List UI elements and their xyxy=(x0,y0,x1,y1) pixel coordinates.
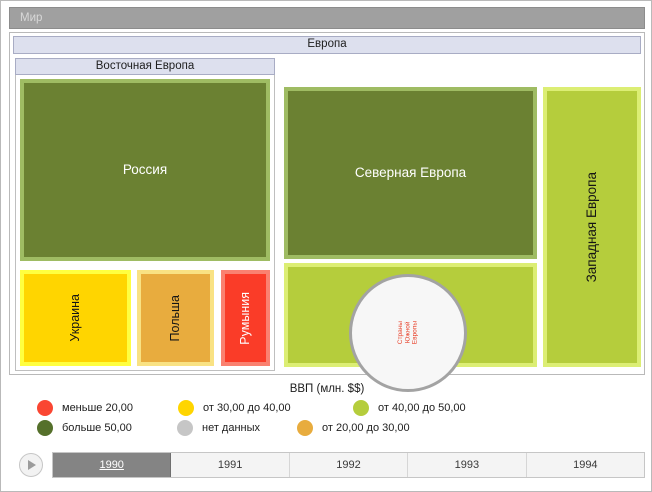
legend-swatch-icon xyxy=(178,400,194,416)
play-icon xyxy=(28,460,36,470)
treemap-tile-poland[interactable]: Польша xyxy=(137,270,214,366)
legend-swatch-icon xyxy=(297,420,313,436)
legend-item-40-to-50[interactable]: от 40,00 до 50,00 xyxy=(353,400,528,416)
root-level-header[interactable]: Мир xyxy=(9,7,645,29)
legend-item-label: от 40,00 до 50,00 xyxy=(378,402,466,414)
legend-item-less-than-20[interactable]: меньше 20,00 xyxy=(37,400,178,416)
drill-bubble-label: Страны Южной Европы xyxy=(397,321,419,344)
legend-item-label: нет данных xyxy=(202,422,260,434)
treemap-app-window: Мир Европа Восточная Европа Россия Украи… xyxy=(0,0,652,492)
treemap-tile-ukraine[interactable]: Украина xyxy=(20,270,131,366)
timeline-tick-1992[interactable]: 1992 xyxy=(290,453,408,477)
timeline-tick-1990[interactable]: 1990 xyxy=(53,453,171,477)
treemap-tile-western-europe[interactable]: Западная Европа xyxy=(543,87,641,367)
drill-bubble-southern-europe[interactable]: Страны Южной Европы xyxy=(349,274,467,392)
treemap-tile-russia[interactable]: Россия xyxy=(20,79,270,261)
legend: ВВП (млн. $$) меньше 20,00 от 30,00 до 4… xyxy=(9,381,645,439)
group-header-eastern-europe[interactable]: Восточная Европа xyxy=(15,58,275,75)
timeline-tick-1993[interactable]: 1993 xyxy=(408,453,526,477)
legend-item-20-to-30[interactable]: от 20,00 до 30,00 xyxy=(297,420,438,436)
treemap-canvas: Европа Восточная Европа Россия Украина П… xyxy=(9,32,645,375)
legend-title: ВВП (млн. $$) xyxy=(9,383,645,395)
legend-items: меньше 20,00 от 30,00 до 40,00 от 40,00 … xyxy=(9,400,645,436)
legend-item-label: от 30,00 до 40,00 xyxy=(203,402,291,414)
legend-item-no-data[interactable]: нет данных xyxy=(177,420,297,436)
timeline-player: 1990 1991 1992 1993 1994 xyxy=(9,445,645,485)
legend-item-more-than-50[interactable]: больше 50,00 xyxy=(37,420,177,436)
legend-swatch-icon xyxy=(353,400,369,416)
legend-item-label: от 20,00 до 30,00 xyxy=(322,422,410,434)
treemap-tile-label-russia: Россия xyxy=(123,163,167,177)
treemap-tile-label-romania: Румыния xyxy=(239,292,252,345)
group-header-europe[interactable]: Европа xyxy=(13,36,641,54)
treemap-tile-label-western-europe: Западная Европа xyxy=(585,172,599,282)
play-button[interactable] xyxy=(19,453,43,477)
treemap-tile-label-ukraine: Украина xyxy=(69,294,82,342)
legend-swatch-icon xyxy=(177,420,193,436)
legend-item-label: больше 50,00 xyxy=(62,422,132,434)
treemap-tile-northern-europe[interactable]: Северная Европа xyxy=(284,87,537,259)
legend-swatch-icon xyxy=(37,420,53,436)
legend-item-label: меньше 20,00 xyxy=(62,402,133,414)
legend-item-30-to-40[interactable]: от 30,00 до 40,00 xyxy=(178,400,353,416)
legend-swatch-icon xyxy=(37,400,53,416)
timeline-tick-1991[interactable]: 1991 xyxy=(171,453,289,477)
treemap-tile-romania[interactable]: Румыния xyxy=(221,270,270,366)
timeline-tick-1994[interactable]: 1994 xyxy=(527,453,644,477)
timeline-track[interactable]: 1990 1991 1992 1993 1994 xyxy=(52,452,645,478)
treemap-tile-label-poland: Польша xyxy=(169,295,182,341)
treemap-tile-label-northern-europe: Северная Европа xyxy=(355,166,466,180)
